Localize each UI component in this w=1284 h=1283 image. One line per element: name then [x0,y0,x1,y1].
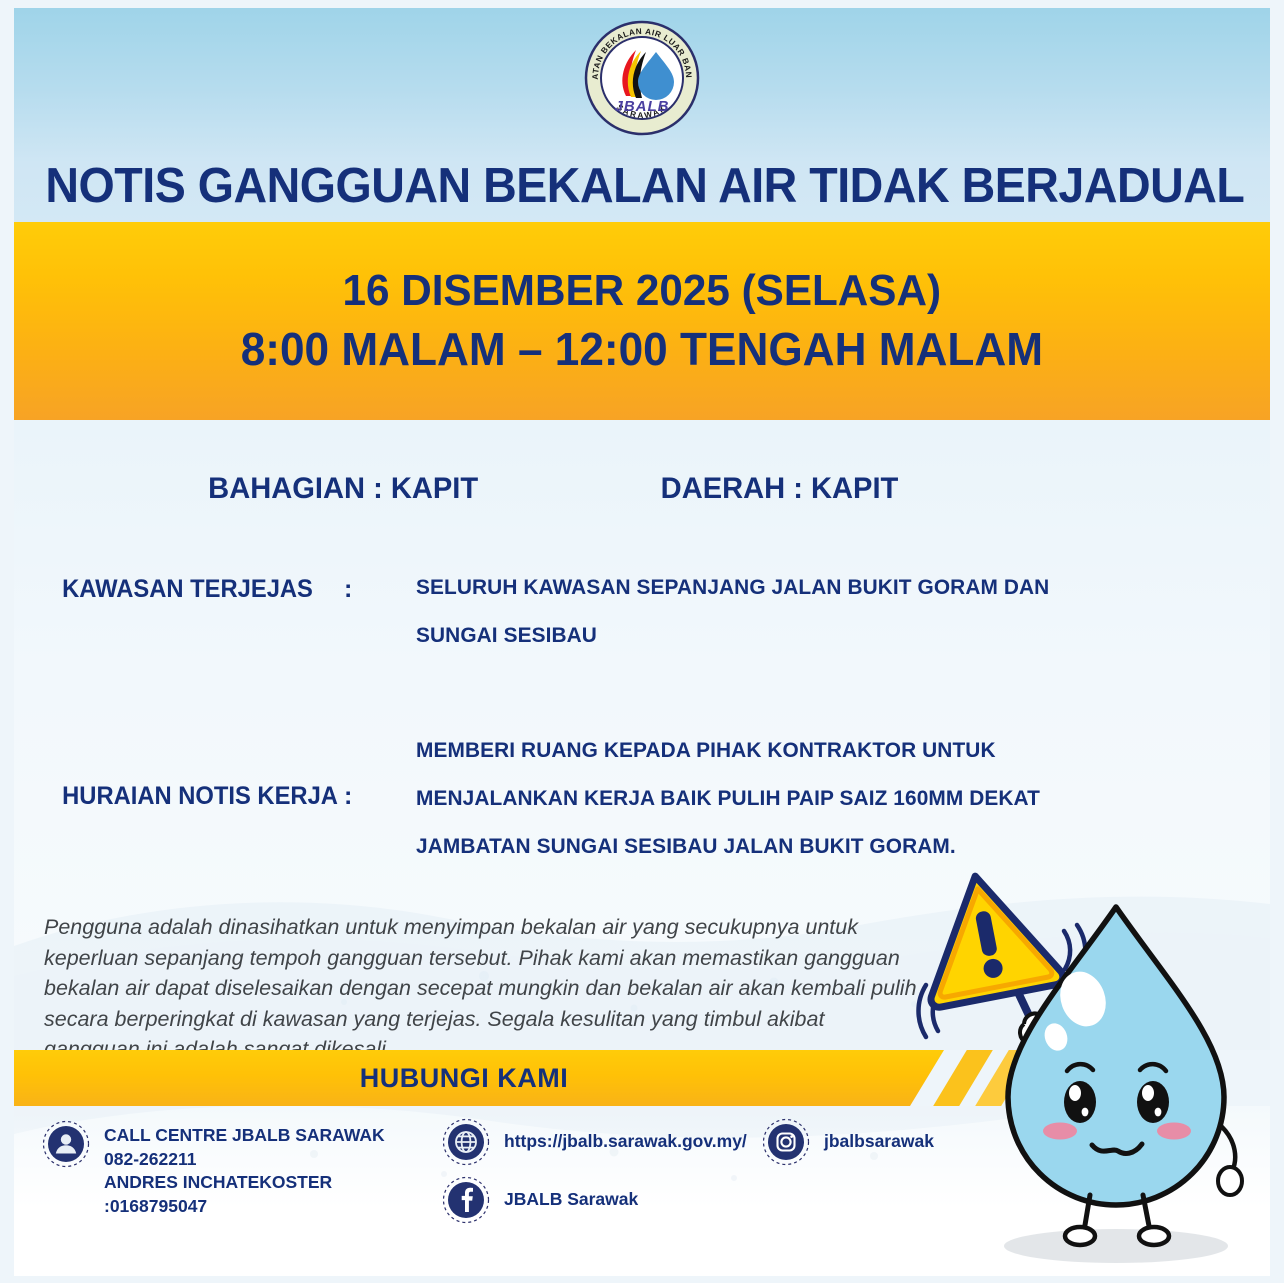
call-centre-name: CALL CENTRE JBALB SARAWAK [104,1124,385,1148]
contact-person-name: ANDRES INCHATEKOSTER [104,1171,385,1195]
daerah-label: DAERAH : KAPIT [661,472,899,506]
water-disruption-notice: JABATAN BEKALAN AIR LUAR BANDAR SARAWAK … [0,0,1284,1283]
date-time-band: 16 DISEMBER 2025 (SELASA) 8:00 MALAM – 1… [14,222,1270,420]
kawasan-line: SUNGAI SESIBAU [416,623,1049,648]
contact-band: HUBUNGI KAMI [14,1050,1270,1106]
advisory-paragraph: Pengguna adalah dinasihatkan untuk menyi… [44,912,924,1050]
huraian-label: HURAIAN NOTIS KERJA [22,738,336,811]
contact-instagram[interactable]: jbalbsarawak [762,1118,934,1166]
website-url: https://jbalb.sarawak.gov.my/ [504,1118,747,1154]
contact-person-phone: :0168795047 [104,1195,385,1219]
notice-body: BAHAGIAN : KAPIT DAERAH : KAPIT KAWASAN … [14,420,1270,1050]
call-centre-phone: 082-262211 [104,1148,385,1172]
jbalb-logo: JABATAN BEKALAN AIR LUAR BANDAR SARAWAK … [582,18,702,138]
contact-call-centre[interactable]: CALL CENTRE JBALB SARAWAK 082-262211 AND… [42,1120,385,1219]
kawasan-label: KAWASAN TERJEJAS [22,575,336,604]
page-title: NOTIS GANGGUAN BEKALAN AIR TIDAK BERJADU… [45,158,1238,214]
person-icon [42,1120,90,1168]
instagram-icon [762,1118,810,1166]
header-banner: JABATAN BEKALAN AIR LUAR BANDAR SARAWAK … [14,8,1270,222]
huraian-value: MEMBERI RUANG KEPADA PIHAK KONTRAKTOR UN… [384,738,1059,882]
huraian-line: MENJALANKAN KERJA BAIK PULIH PAIP SAIZ 1… [416,786,1040,811]
bahagian-label: BAHAGIAN : KAPIT [208,472,478,506]
contact-facebook[interactable]: JBALB Sarawak [442,1176,638,1224]
svg-text:JBALB: JBALB [614,98,669,115]
huraian-line: MEMBERI RUANG KEPADA PIHAK KONTRAKTOR UN… [416,738,1040,763]
contact-website[interactable]: https://jbalb.sarawak.gov.my/ [442,1118,747,1166]
contact-details: CALL CENTRE JBALB SARAWAK 082-262211 AND… [14,1106,1270,1276]
notice-time: 8:00 MALAM – 12:00 TENGAH MALAM [241,322,1043,376]
field-huraian-notis-kerja: HURAIAN NOTIS KERJA : MEMBERI RUANG KEPA… [14,738,1164,882]
field-kawasan-terjejas: KAWASAN TERJEJAS : SELURUH KAWASAN SEPAN… [14,575,1164,671]
kawasan-colon: : [344,575,384,604]
notice-date: 16 DISEMBER 2025 (SELASA) [343,266,942,316]
call-centre-text: CALL CENTRE JBALB SARAWAK 082-262211 AND… [104,1120,385,1219]
instagram-handle: jbalbsarawak [824,1118,934,1154]
globe-icon [442,1118,490,1166]
huraian-line: JAMBATAN SUNGAI SESIBAU JALAN BUKIT GORA… [416,834,1040,859]
contact-band-title: HUBUNGI KAMI [14,1050,914,1106]
kawasan-value: SELURUH KAWASAN SEPANJANG JALAN BUKIT GO… [384,575,1069,671]
facebook-handle: JBALB Sarawak [504,1176,638,1212]
kawasan-line: SELURUH KAWASAN SEPANJANG JALAN BUKIT GO… [416,575,1049,600]
huraian-colon: : [344,738,384,811]
region-row: BAHAGIAN : KAPIT DAERAH : KAPIT [14,472,1014,506]
facebook-icon [442,1176,490,1224]
